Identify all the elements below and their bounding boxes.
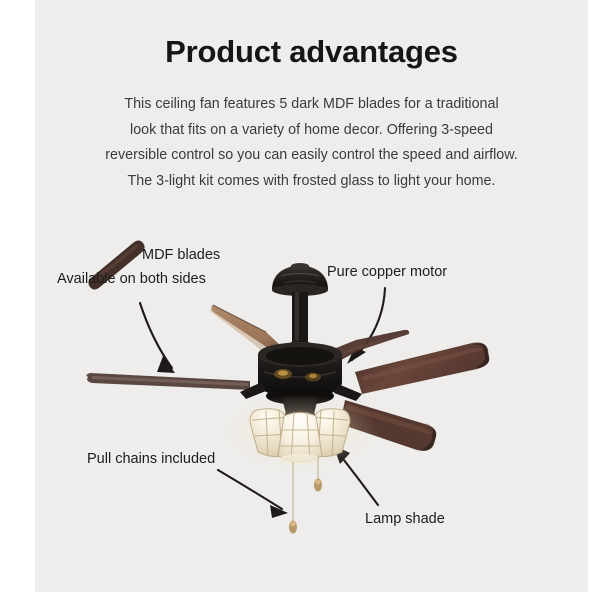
ceiling-canopy — [272, 263, 328, 296]
annotation-pure-copper-motor: Pure copper motor — [327, 264, 447, 280]
product-advantages-page: Product advantages This ceiling fan feat… — [0, 0, 600, 600]
annotation-available-both-sides: Available on both sides — [57, 271, 206, 287]
ceiling-fan-illustration — [0, 0, 600, 600]
light-kit — [222, 394, 378, 470]
annotation-mdf-blades: MDF blades — [142, 247, 220, 263]
arrow-pull-chains — [218, 470, 288, 518]
annotation-lamp-shade: Lamp shade — [365, 511, 445, 527]
fan-blade-right-upper — [355, 343, 489, 394]
lamp-shade-center — [278, 412, 322, 464]
annotation-pull-chains-included: Pull chains included — [87, 451, 215, 467]
arrow-mdf-blades — [140, 303, 175, 373]
pull-chain-front — [289, 462, 297, 534]
downrod — [288, 292, 312, 349]
fan-blade-left — [86, 373, 250, 390]
